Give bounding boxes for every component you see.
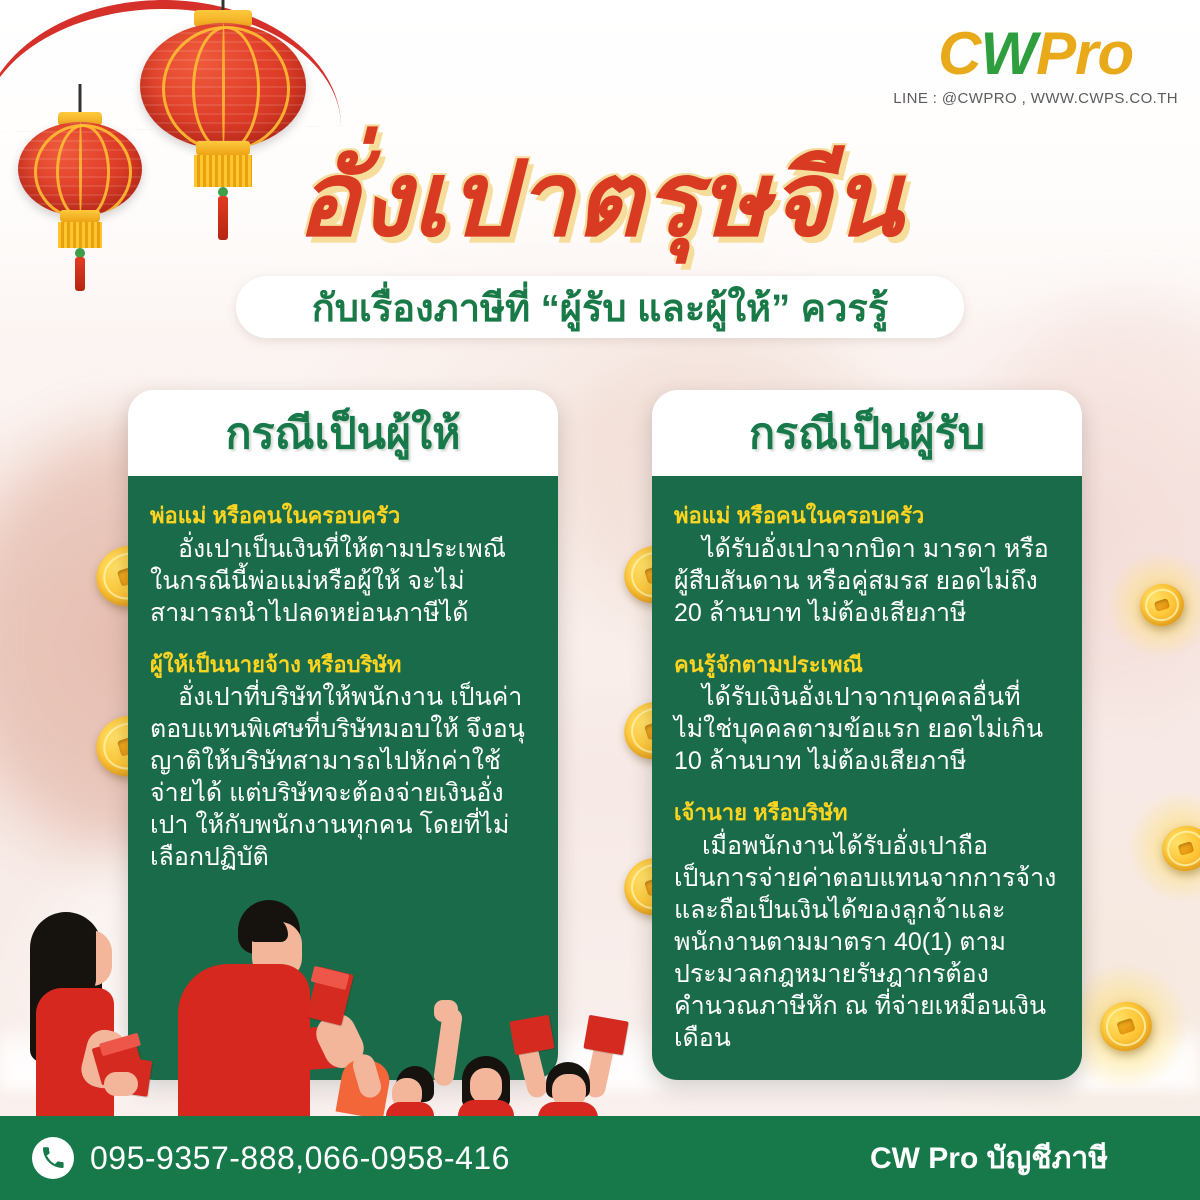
person-woman-hair-front [62, 924, 96, 994]
footer-bar: 095-9357-888,066-0958-416 CW Pro บัญชีภา… [0, 1116, 1200, 1200]
coin-hole [1177, 841, 1194, 857]
card-receiver-heading: กรณีเป็นผู้รับ [749, 399, 985, 467]
page-title: อั่งเปาตรุษจีน [0, 148, 1200, 252]
section: ผู้ให้เป็นนายจ้าง หรือบริษัท อั่งเปาที่บ… [150, 651, 536, 874]
coin-icon [1135, 578, 1190, 632]
infographic-canvas: CWPro LINE : @CWPRO , WWW.CWPS.CO.TH อั่… [0, 0, 1200, 1200]
logo-letter-c: C [938, 20, 980, 87]
subtitle-text: กับเรื่องภาษีที่ “ผู้รับ และผู้ให้” ควรร… [312, 277, 889, 338]
person-woman-hand [104, 1072, 138, 1096]
section: คนรู้จักตามประเพณี ได้รับเงินอั่งเปาจากบ… [674, 651, 1060, 778]
red-envelope [583, 1015, 628, 1055]
footer-company-name: CW Pro บัญชีภาษี [870, 1135, 1108, 1182]
card-receiver-header: กรณีเป็นผู้รับ [652, 390, 1082, 476]
footer-phone-number[interactable]: 095-9357-888,066-0958-416 [90, 1140, 510, 1177]
person-kid2-hand [434, 1000, 458, 1022]
section: พ่อแม่ หรือคนในครอบครัว ได้รับอั่งเปาจาก… [674, 502, 1060, 629]
coin-icon [1156, 820, 1200, 878]
coin-hole [1117, 1018, 1136, 1035]
section-text: อั่งเปาที่บริษัทให้พนักงาน เป็นค่าตอบแทน… [150, 681, 536, 873]
card-receiver-body: พ่อแม่ หรือคนในครอบครัว ได้รับอั่งเปาจาก… [652, 476, 1082, 1080]
lantern-string [79, 84, 82, 114]
lantern-tassel [75, 257, 85, 291]
card-giver-header: กรณีเป็นผู้ให้ [128, 390, 558, 476]
person-kid2-face [470, 1068, 502, 1104]
section: พ่อแม่ หรือคนในครอบครัว อั่งเปาเป็นเงินท… [150, 502, 536, 629]
section-title: เจ้านาย หรือบริษัท [674, 799, 1060, 827]
section-text: อั่งเปาเป็นเงินที่ให้ตามประเพณี ในกรณีนี… [150, 533, 536, 629]
logo-wordmark: CWPro [893, 24, 1178, 84]
section-text: ได้รับเงินอั่งเปาจากบุคคลอื่นที่ไม่ใช่บุ… [674, 681, 1060, 777]
lantern-icon [140, 10, 306, 160]
logo-contact-line: LINE : @CWPRO , WWW.CWPS.CO.TH [893, 90, 1178, 107]
subtitle-banner: กับเรื่องภาษีที่ “ผู้รับ และผู้ให้” ควรร… [236, 276, 964, 338]
section-text: ได้รับอั่งเปาจากบิดา มารดา หรือผู้สืบสัน… [674, 533, 1060, 629]
brand-logo: CWPro LINE : @CWPRO , WWW.CWPS.CO.TH [893, 24, 1178, 107]
footer-contact: 095-9357-888,066-0958-416 [32, 1137, 510, 1179]
red-envelope [509, 1015, 554, 1055]
section-text: เมื่อพนักงานได้รับอั่งเปาถือเป็นการจ่ายค… [674, 830, 1060, 1054]
logo-word-pro: Pro [1036, 20, 1133, 87]
section-title: ผู้ให้เป็นนายจ้าง หรือบริษัท [150, 651, 536, 679]
lantern-arc [192, 26, 260, 149]
people-illustration [0, 896, 660, 1116]
lantern-body [140, 23, 306, 149]
section: เจ้านาย หรือบริษัท เมื่อพนักงานได้รับอั่… [674, 799, 1060, 1054]
card-receiver: กรณีเป็นผู้รับ พ่อแม่ หรือคนในครอบครัว ไ… [652, 390, 1082, 1080]
coin-hole [1154, 598, 1170, 612]
logo-letter-w: W [980, 20, 1036, 87]
section-title: คนรู้จักตามประเพณี [674, 651, 1060, 679]
section-title: พ่อแม่ หรือคนในครอบครัว [674, 502, 1060, 530]
section-title: พ่อแม่ หรือคนในครอบครัว [150, 502, 536, 530]
card-giver-heading: กรณีเป็นผู้ให้ [226, 399, 461, 467]
phone-icon [32, 1137, 74, 1179]
